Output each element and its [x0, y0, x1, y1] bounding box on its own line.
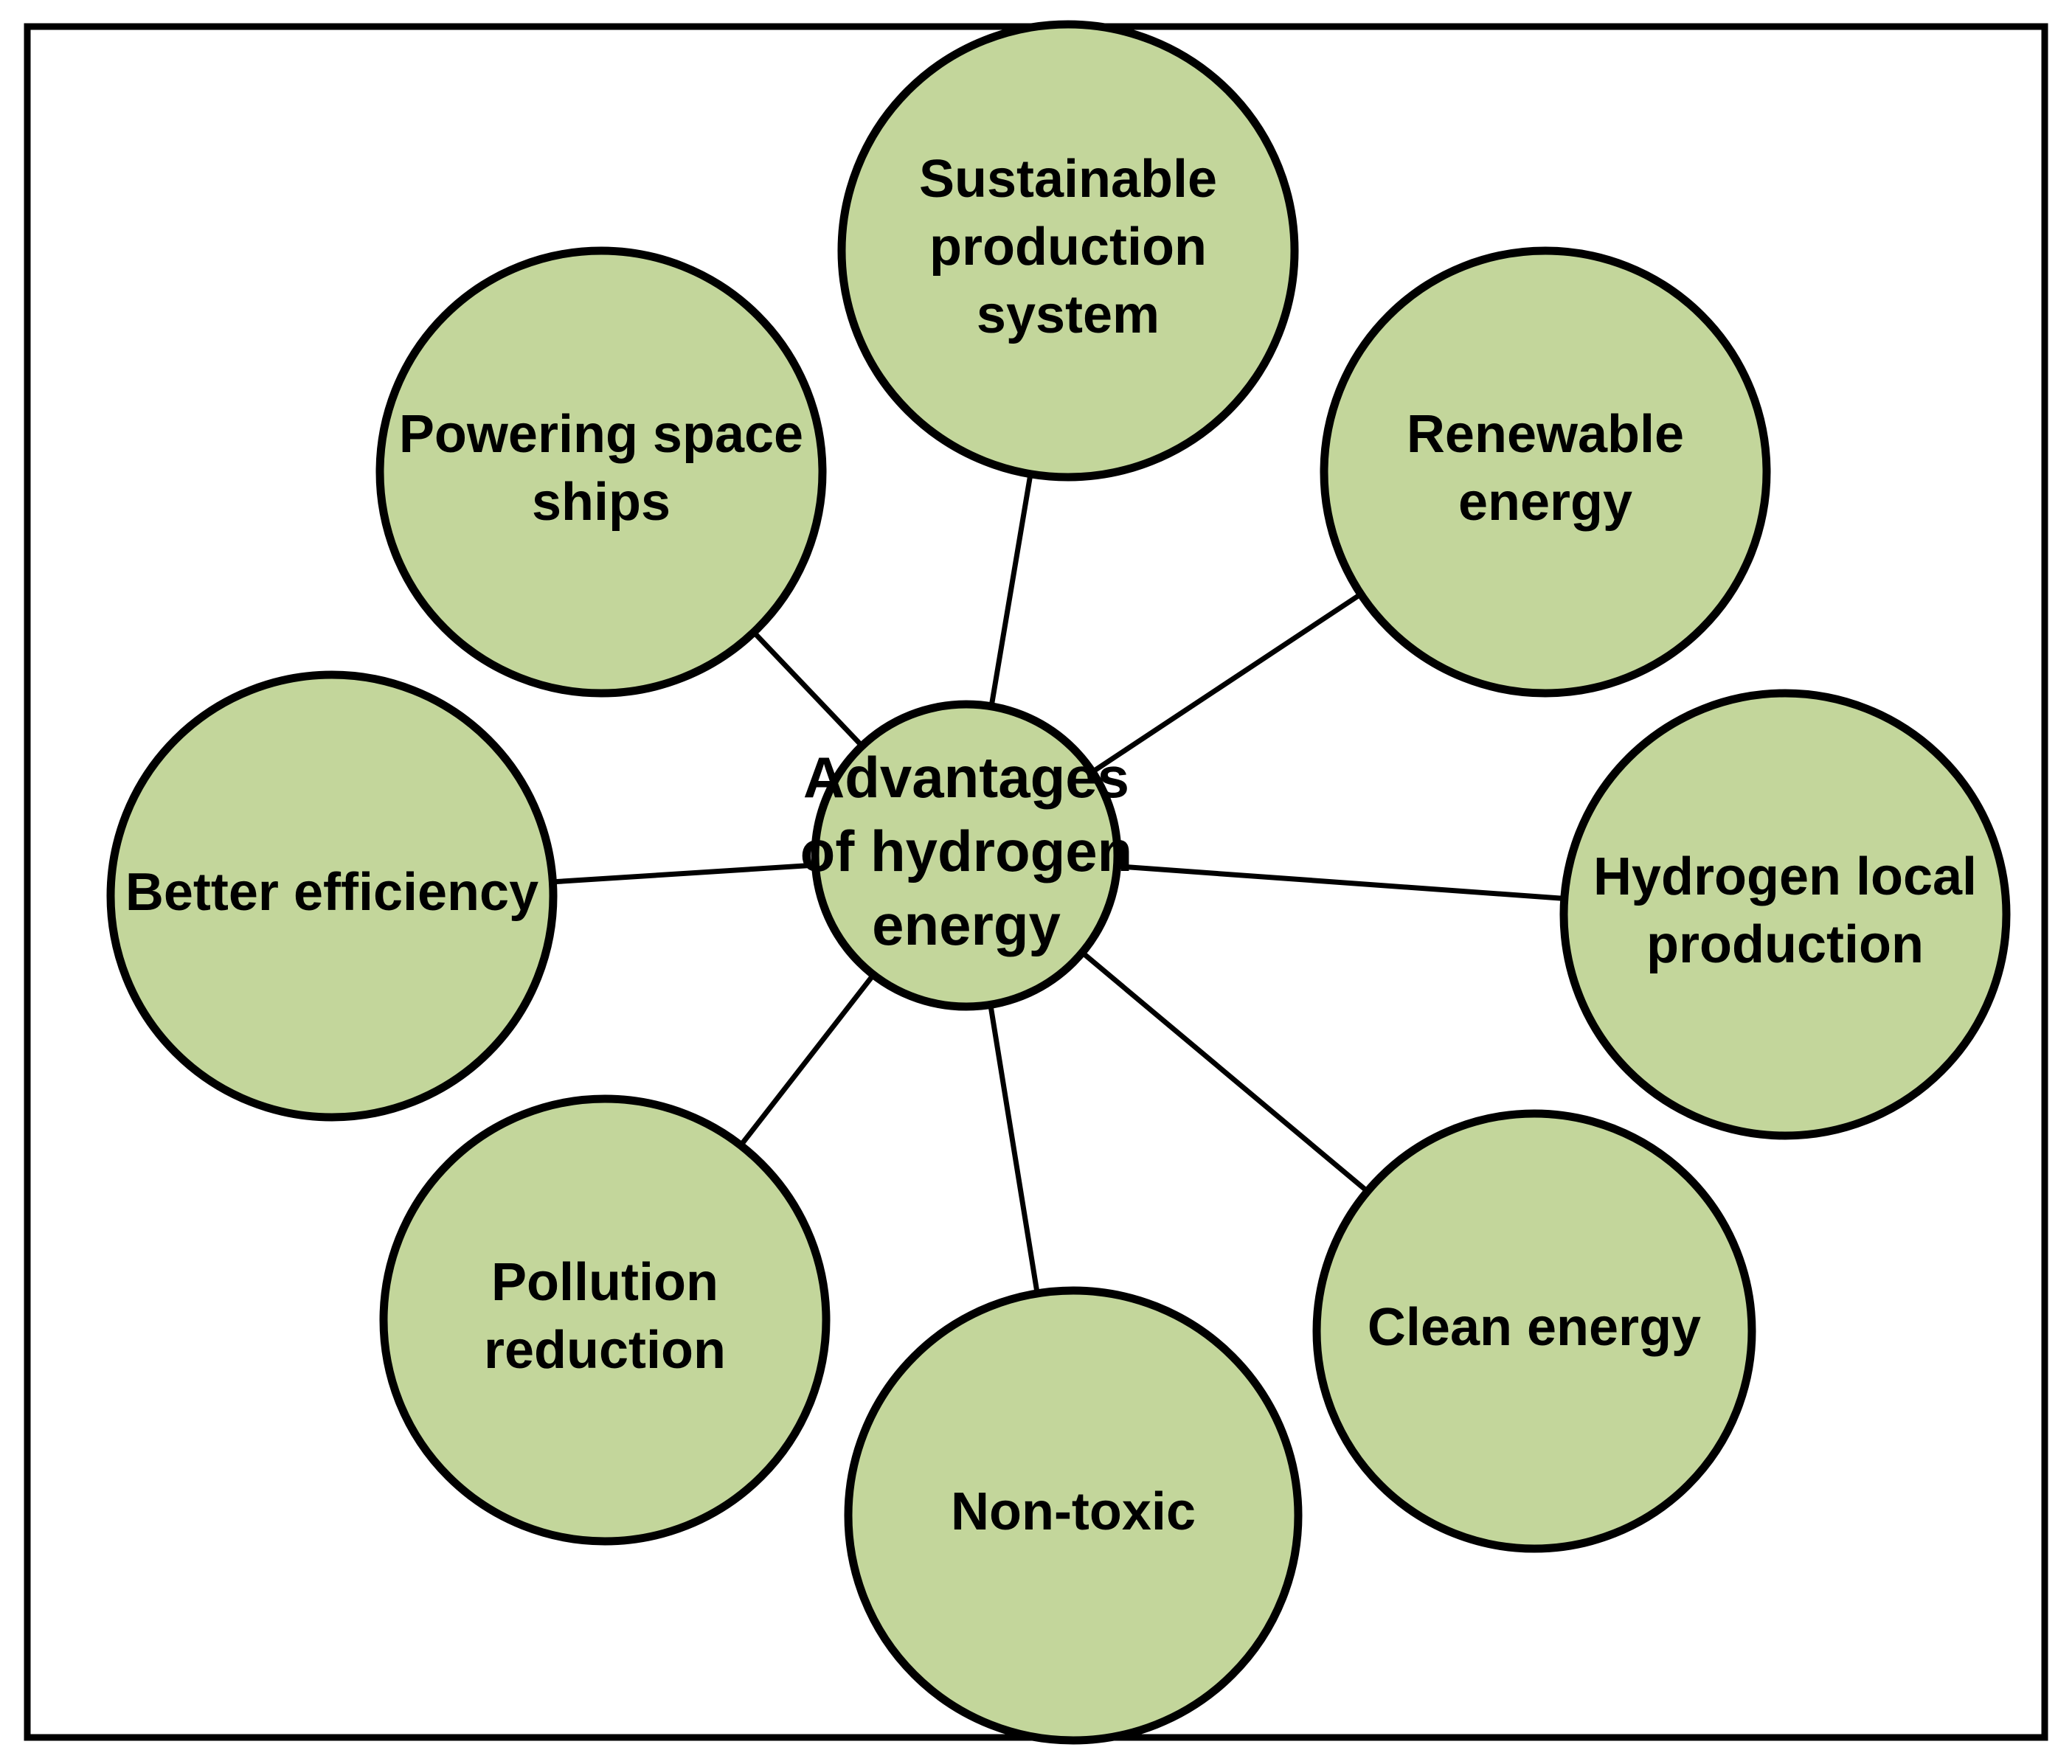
node-label-non-toxic: Non-toxic [951, 1482, 1196, 1541]
hydrogen-advantages-mindmap: SustainableproductionsystemRenewableener… [0, 0, 2072, 1764]
node-renewable-energy[interactable]: Renewableenergy [1324, 251, 1767, 693]
node-clean-energy[interactable]: Clean energy [1317, 1114, 1752, 1549]
diagram-canvas: SustainableproductionsystemRenewableener… [0, 0, 2072, 1764]
node-circle-renewable-energy[interactable] [1324, 251, 1767, 693]
node-label-clean-energy: Clean energy [1368, 1298, 1701, 1357]
node-label-better-efficiency: Better efficiency [125, 863, 538, 922]
node-pollution-reduction[interactable]: Pollutionreduction [384, 1099, 826, 1541]
node-better-efficiency[interactable]: Better efficiency [111, 675, 553, 1117]
node-circle-hydrogen-local-production[interactable] [1564, 693, 2006, 1136]
node-circle-pollution-reduction[interactable] [384, 1099, 826, 1541]
node-hydrogen-local-production[interactable]: Hydrogen localproduction [1564, 693, 2006, 1136]
node-powering-space-ships[interactable]: Powering spaceships [380, 251, 822, 693]
node-sustainable-production-system[interactable]: Sustainableproductionsystem [842, 24, 1295, 477]
node-circle-powering-space-ships[interactable] [380, 251, 822, 693]
node-non-toxic[interactable]: Non-toxic [848, 1291, 1298, 1740]
